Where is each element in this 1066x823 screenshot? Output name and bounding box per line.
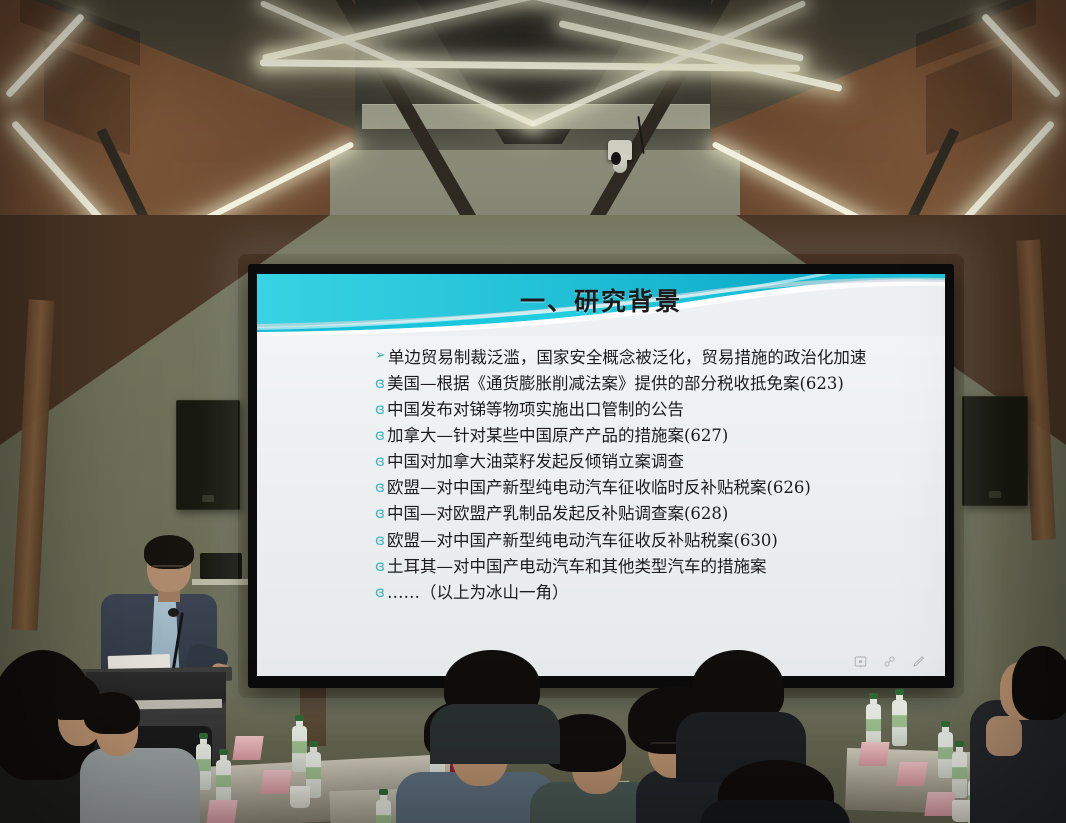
presenter-hair: [144, 535, 194, 569]
list-item: ɞ 欧盟—对中国产新型纯电动汽车征收反补贴税案(630): [375, 529, 917, 553]
bullet-flourish-icon: ɞ: [375, 424, 385, 447]
slide-bullet-list: ➢ 单边贸易制裁泛滥，国家安全概念被泛化，贸易措施的政治化加速 ɞ 美国—根据《…: [375, 346, 917, 607]
presentation-screen: 一、研究背景 ➢ 单边贸易制裁泛滥，国家安全概念被泛化，贸易措施的政治化加速 ɞ…: [248, 264, 954, 688]
bullet-flourish-icon: ɞ: [375, 529, 385, 552]
bullet-flourish-icon: ɞ: [375, 450, 385, 473]
presenter-glasses-icon: [151, 565, 185, 575]
camera-lens-icon: [611, 152, 621, 165]
list-item: ɞ 中国发布对锑等物项实施出口管制的公告: [375, 398, 917, 422]
list-item: ɞ 加拿大—针对某些中国原产产品的措施案(627): [375, 424, 917, 448]
wall-speaker-right: [962, 396, 1028, 506]
screen-cast-icon[interactable]: [854, 655, 867, 668]
list-item-text: 中国—对欧盟产乳制品发起反补贴调查案(628): [387, 502, 917, 526]
name-card: [260, 770, 291, 794]
name-card: [206, 800, 237, 823]
attendee-hair: [1012, 646, 1066, 720]
list-item-text: 加拿大—针对某些中国原产产品的措施案(627): [387, 424, 917, 448]
paper-cup: [290, 786, 310, 808]
bullet-flourish-icon: ɞ: [375, 555, 385, 578]
bullet-flourish-icon: ɞ: [375, 398, 385, 421]
slide: 一、研究背景 ➢ 单边贸易制裁泛滥，国家安全概念被泛化，贸易措施的政治化加速 ɞ…: [257, 274, 945, 676]
water-bottle: [376, 800, 391, 823]
water-bottle: [292, 726, 307, 772]
list-item-text: 单边贸易制裁泛滥，国家安全概念被泛化，贸易措施的政治化加速: [388, 346, 917, 370]
conference-room-photo: 一、研究背景 ➢ 单边贸易制裁泛滥，国家安全概念被泛化，贸易措施的政治化加速 ɞ…: [0, 0, 1066, 823]
attendee-body: [700, 800, 850, 823]
attendee-hand: [986, 716, 1022, 756]
list-item: ɞ 欧盟—对中国产新型纯电动汽车征收临时反补贴税案(626): [375, 476, 917, 500]
name-card: [924, 792, 955, 816]
water-bottle: [892, 700, 907, 746]
slide-title: 一、研究背景: [257, 282, 945, 318]
list-item-text: ……（以上为冰山一角）: [387, 581, 917, 605]
list-item: ɞ ……（以上为冰山一角）: [375, 581, 917, 605]
link-icon[interactable]: [883, 655, 896, 668]
attendee-hair: [84, 692, 140, 734]
water-bottle: [938, 732, 953, 778]
list-item: ➢ 单边贸易制裁泛滥，国家安全概念被泛化，贸易措施的政治化加速: [375, 346, 917, 370]
list-item-text: 中国发布对锑等物项实施出口管制的公告: [387, 398, 917, 422]
wall-mounted-box: [200, 553, 242, 579]
list-item-text: 欧盟—对中国产新型纯电动汽车征收临时反补贴税案(626): [387, 476, 917, 500]
bullet-flourish-icon: ɞ: [375, 502, 385, 525]
slide-corner-icons: [854, 655, 925, 668]
list-item: ɞ 中国—对欧盟产乳制品发起反补贴调查案(628): [375, 502, 917, 526]
attendee-body: [80, 748, 200, 823]
list-item: ɞ 中国对加拿大油菜籽发起反倾销立案调查: [375, 450, 917, 474]
bullet-flourish-icon: ɞ: [375, 476, 385, 499]
list-item: ɞ 土耳其—对中国产电动汽车和其他类型汽车的措施案: [375, 555, 917, 579]
list-item-text: 中国对加拿大油菜籽发起反倾销立案调查: [387, 450, 917, 474]
pen-icon[interactable]: [912, 655, 925, 668]
name-card: [858, 742, 889, 766]
bullet-flourish-icon: ɞ: [375, 581, 385, 604]
name-card: [232, 736, 263, 760]
list-item: ɞ 美国—根据《通货膨胀削减法案》提供的部分税收抵免案(623): [375, 372, 917, 396]
list-item-text: 土耳其—对中国产电动汽车和其他类型汽车的措施案: [387, 555, 917, 579]
list-item-text: 美国—根据《通货膨胀削减法案》提供的部分税收抵免案(623): [387, 372, 917, 396]
list-item-text: 欧盟—对中国产新型纯电动汽车征收反补贴税案(630): [387, 529, 917, 553]
wall-shelf: [192, 579, 254, 585]
attendee-body: [430, 704, 560, 764]
microphone-head: [168, 608, 179, 617]
wall-speaker-left: [176, 400, 240, 510]
paper-cup: [952, 800, 972, 822]
bullet-arrow-icon: ➢: [375, 346, 386, 366]
bullet-flourish-icon: ɞ: [375, 372, 385, 395]
name-card: [896, 762, 927, 786]
